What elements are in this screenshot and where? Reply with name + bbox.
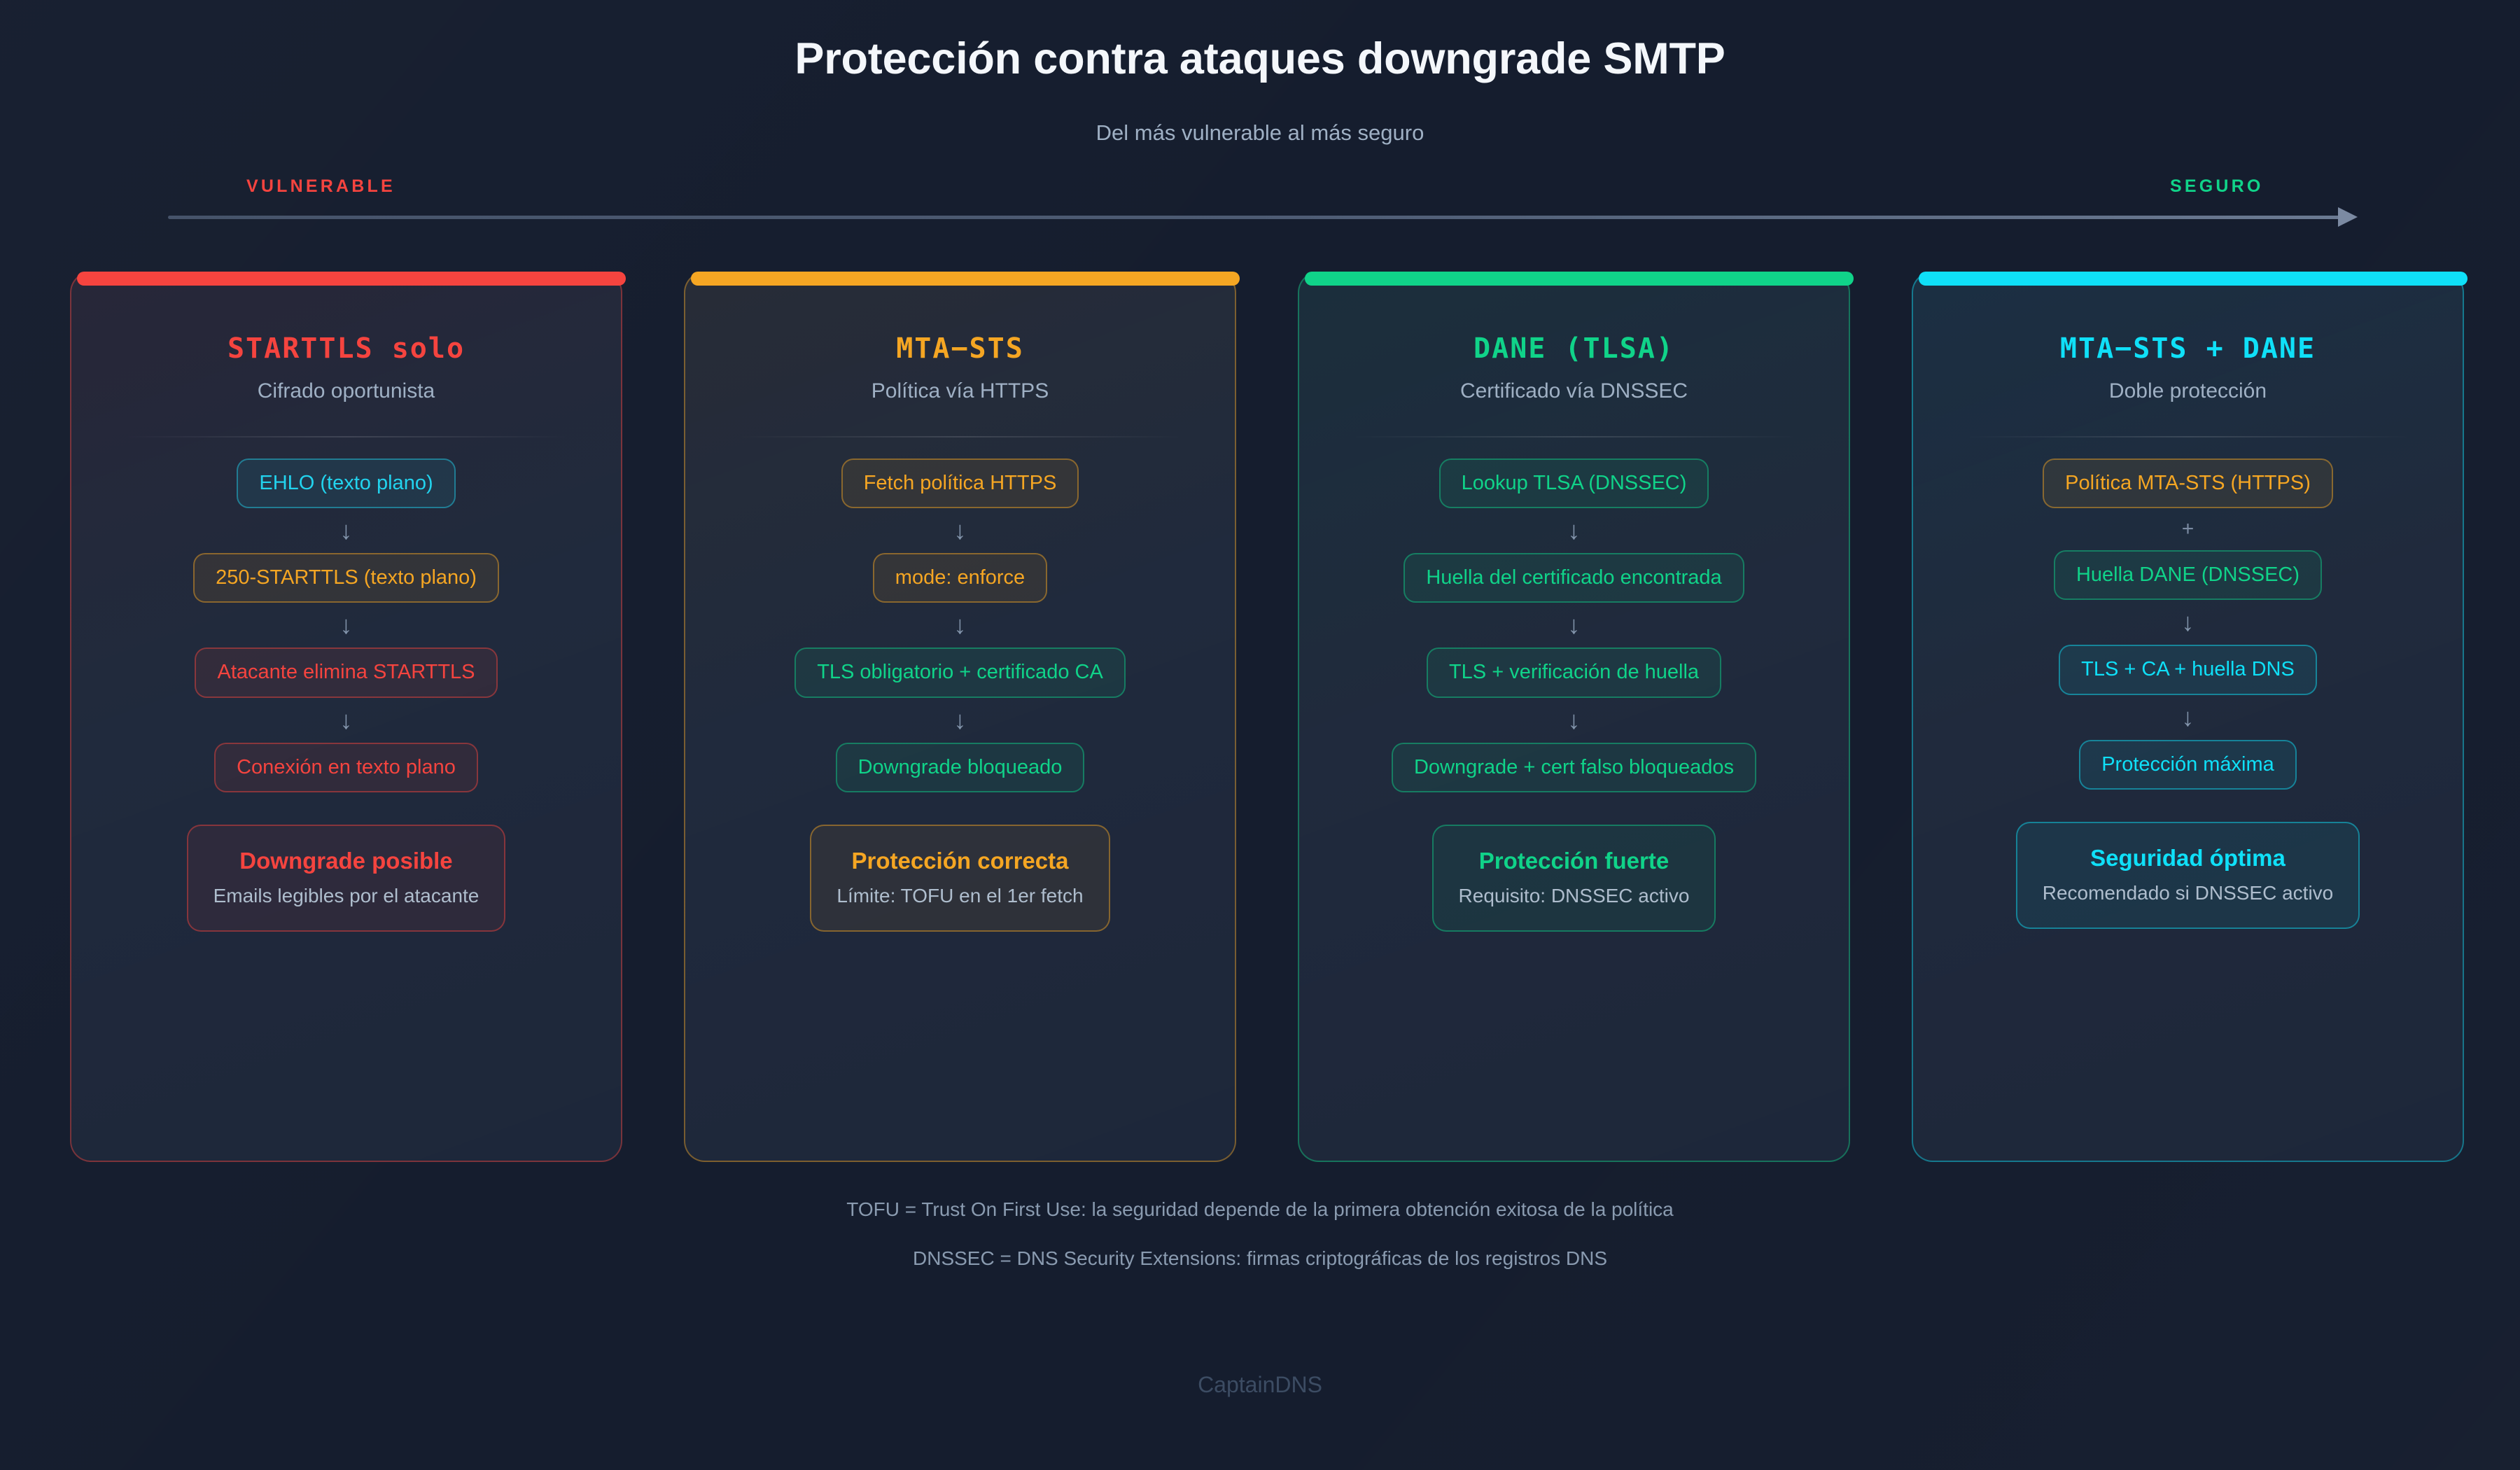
card-title: MTA−STS <box>896 333 1024 364</box>
result-title: Downgrade posible <box>213 847 479 875</box>
result-note: Requisito: DNSSEC activo <box>1459 884 1690 908</box>
protection-card[interactable]: MTA−STS + DANEDoble protecciónPolítica M… <box>1912 272 2464 1162</box>
card-subtitle: Cifrado oportunista <box>258 379 435 404</box>
footnotes: TOFU = Trust On First Use: la seguridad … <box>0 1198 2520 1296</box>
footnote: DNSSEC = DNS Security Extensions: firmas… <box>0 1247 2520 1270</box>
flow-step[interactable]: Downgrade + cert falso bloqueados <box>1392 743 1756 792</box>
protection-card[interactable]: STARTTLS soloCifrado oportunistaEHLO (te… <box>70 272 622 1162</box>
arrow-down-connector-icon: ↓ <box>954 609 967 641</box>
axis-label-vulnerable: VULNERABLE <box>246 176 395 197</box>
result-note: Límite: TOFU en el 1er fetch <box>836 884 1083 908</box>
card-divider <box>1352 436 1797 437</box>
card-result[interactable]: Seguridad óptimaRecomendado si DNSSEC ac… <box>2016 822 2360 929</box>
arrow-down-connector-icon: ↓ <box>2182 701 2194 734</box>
arrow-down-connector-icon: ↓ <box>1568 609 1581 641</box>
arrow-down-connector-icon: ↓ <box>340 609 353 641</box>
flow-step[interactable]: Downgrade bloqueado <box>836 743 1085 792</box>
arrow-down-connector-icon: ↓ <box>2182 606 2194 638</box>
arrow-down-connector-icon: ↓ <box>1568 514 1581 547</box>
step-flow: Política MTA-STS (HTTPS)+Huella DANE (DN… <box>1944 458 2432 790</box>
protection-card[interactable]: MTA−STSPolítica vía HTTPSFetch política … <box>684 272 1236 1162</box>
flow-step[interactable]: mode: enforce <box>873 553 1047 603</box>
arrow-down-connector-icon: ↓ <box>954 514 967 547</box>
card-accent-bar <box>77 272 626 286</box>
flow-step[interactable]: TLS + verificación de huella <box>1427 647 1721 697</box>
flow-step[interactable]: Huella del certificado encontrada <box>1403 553 1744 603</box>
arrow-down-connector-icon: ↓ <box>340 704 353 736</box>
axis-line <box>168 216 2344 219</box>
card-subtitle: Certificado vía DNSSEC <box>1460 379 1688 404</box>
arrow-down-connector-icon: ↓ <box>954 704 967 736</box>
result-title: Protección fuerte <box>1459 847 1690 875</box>
infographic-root: Protección contra ataques downgrade SMTP… <box>0 0 2520 1470</box>
card-divider <box>738 436 1183 437</box>
card-row: STARTTLS soloCifrado oportunistaEHLO (te… <box>70 272 2464 1162</box>
card-result[interactable]: Protección fuerteRequisito: DNSSEC activ… <box>1432 825 1716 932</box>
card-title: DANE (TLSA) <box>1473 333 1674 364</box>
flow-step[interactable]: Huella DANE (DNSSEC) <box>2054 550 2322 600</box>
card-result[interactable]: Protección correctaLímite: TOFU en el 1e… <box>810 825 1109 932</box>
flow-step[interactable]: TLS + CA + huella DNS <box>2059 645 2317 694</box>
card-subtitle: Doble protección <box>2109 379 2267 404</box>
card-accent-bar <box>1305 272 1854 286</box>
brand-watermark: CaptainDNS <box>0 1372 2520 1398</box>
flow-step[interactable]: Atacante elimina STARTTLS <box>195 647 497 697</box>
security-spectrum-axis: VULNERABLE SEGURO <box>168 176 2380 237</box>
flow-step[interactable]: Conexión en texto plano <box>214 743 478 792</box>
flow-step[interactable]: 250-STARTTLS (texto plano) <box>193 553 499 603</box>
flow-step[interactable]: Lookup TLSA (DNSSEC) <box>1439 458 1709 508</box>
flow-step[interactable]: Política MTA-STS (HTTPS) <box>2043 458 2333 508</box>
plus-connector-icon: + <box>2182 514 2194 544</box>
arrow-down-connector-icon: ↓ <box>340 514 353 547</box>
card-divider <box>1966 436 2411 437</box>
card-accent-bar <box>1919 272 2467 286</box>
page-subtitle: Del más vulnerable al más seguro <box>0 120 2520 146</box>
card-accent-bar <box>691 272 1240 286</box>
flow-step[interactable]: Protección máxima <box>2079 740 2297 790</box>
result-note: Recomendado si DNSSEC activo <box>2043 881 2334 905</box>
result-title: Seguridad óptima <box>2043 844 2334 872</box>
flow-step[interactable]: EHLO (texto plano) <box>237 458 455 508</box>
card-title: STARTTLS solo <box>227 333 465 364</box>
step-flow: EHLO (texto plano)↓250-STARTTLS (texto p… <box>102 458 590 792</box>
axis-arrow-icon <box>2338 207 2358 227</box>
footnote: TOFU = Trust On First Use: la seguridad … <box>0 1198 2520 1221</box>
card-result[interactable]: Downgrade posibleEmails legibles por el … <box>187 825 506 932</box>
result-title: Protección correcta <box>836 847 1083 875</box>
flow-step[interactable]: Fetch política HTTPS <box>841 458 1079 508</box>
card-subtitle: Política vía HTTPS <box>871 379 1049 404</box>
step-flow: Fetch política HTTPS↓mode: enforce↓TLS o… <box>716 458 1204 792</box>
arrow-down-connector-icon: ↓ <box>1568 704 1581 736</box>
card-divider <box>124 436 569 437</box>
card-title: MTA−STS + DANE <box>2060 333 2316 364</box>
protection-card[interactable]: DANE (TLSA)Certificado vía DNSSECLookup … <box>1298 272 1850 1162</box>
page-title: Protección contra ataques downgrade SMTP <box>0 34 2520 84</box>
step-flow: Lookup TLSA (DNSSEC)↓Huella del certific… <box>1330 458 1818 792</box>
flow-step[interactable]: TLS obligatorio + certificado CA <box>794 647 1126 697</box>
result-note: Emails legibles por el atacante <box>213 884 479 908</box>
axis-label-secure: SEGURO <box>2170 176 2264 197</box>
